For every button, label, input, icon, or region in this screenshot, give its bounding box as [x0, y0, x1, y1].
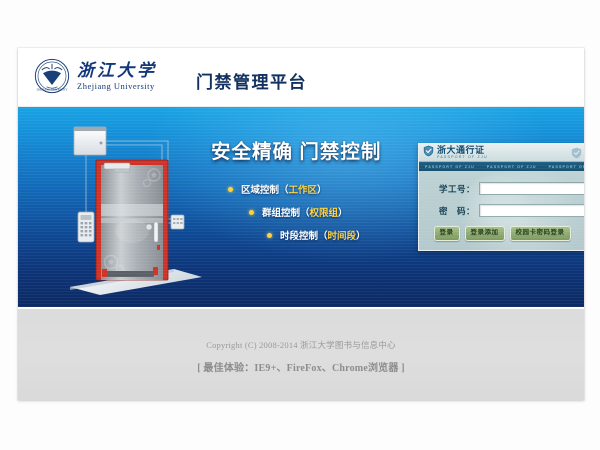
- login-panel-title-group: 浙大通行证 PASSPORT OF ZJU: [437, 146, 488, 160]
- svg-text:ZHEJIANG UNIVERSITY: ZHEJIANG UNIVERSITY: [37, 89, 68, 92]
- feature-label: 群组控制（: [262, 205, 310, 219]
- login-add-button[interactable]: 登录添加: [465, 226, 505, 241]
- password-label: 密 码：: [427, 205, 479, 217]
- site-footer: Copyright (C) 2008-2014 浙江大学图书与信息中心 [ 最佳…: [18, 307, 584, 400]
- password-input[interactable]: [479, 204, 584, 217]
- brand-name-cn: 浙江大学: [77, 62, 157, 79]
- hero-copy: 安全精确 门禁控制 区域控制（工作区） 群组控制（权限组） 时段控制（时间段）: [211, 135, 426, 251]
- login-form: 学工号： 密 码： 登录 登录添加 校园卡密码登录: [419, 171, 584, 250]
- watermark-text: PASSPORT OF ZJU: [543, 165, 584, 169]
- login-panel: 浙大通行证 PASSPORT OF ZJU PASSPORT OF ZJU PA…: [418, 143, 584, 251]
- field-row-password: 密 码：: [427, 204, 577, 217]
- brand-name-en: Zhejiang University: [77, 82, 157, 91]
- feature-label: 时段控制（: [280, 228, 328, 242]
- login-button[interactable]: 登录: [434, 226, 460, 241]
- login-panel-header: 浙大通行证 PASSPORT OF ZJU: [419, 144, 584, 162]
- login-panel-title: 浙大通行证: [437, 146, 488, 155]
- student-staff-id-input[interactable]: [479, 182, 584, 195]
- bullet-dot-icon: [249, 210, 254, 215]
- shield-icon: [423, 144, 437, 162]
- login-button-row: 登录 登录添加 校园卡密码登录: [427, 226, 577, 241]
- student-staff-id-label: 学工号：: [427, 183, 479, 195]
- feature-item-area-control: 区域控制（工作区）: [211, 182, 426, 196]
- login-panel-subtitle: PASSPORT OF ZJU: [437, 156, 488, 160]
- browser-support-text: [ 最佳体验：IE9+、FireFox、Chrome浏览器 ]: [18, 359, 584, 374]
- feature-tail: ）: [338, 205, 348, 219]
- feature-tail: ）: [317, 182, 327, 196]
- hero-banner: 安全精确 门禁控制 区域控制（工作区） 群组控制（权限组） 时段控制（时间段）: [18, 107, 584, 307]
- copyright-text: Copyright (C) 2008-2014 浙江大学图书与信息中心: [18, 339, 584, 351]
- bullet-dot-icon: [228, 187, 233, 192]
- bullet-dot-icon: [267, 233, 272, 238]
- content-card: ZHEJIANG UNIVERSITY 浙江大学 Zhejiang Univer…: [18, 48, 584, 400]
- feature-label: 区域控制（: [241, 182, 289, 196]
- site-header: ZHEJIANG UNIVERSITY 浙江大学 Zhejiang Univer…: [18, 48, 584, 107]
- watermark-text: PASSPORT OF ZJU: [419, 165, 481, 169]
- shield-icon-secondary: [571, 146, 582, 158]
- hero-slogan: 安全精确 门禁控制: [211, 135, 426, 164]
- feature-tail: ）: [356, 228, 366, 242]
- brand-wordmark: 浙江大学 Zhejiang University: [77, 62, 157, 91]
- footer-notch: [186, 307, 193, 309]
- brand-logo[interactable]: ZHEJIANG UNIVERSITY 浙江大学 Zhejiang Univer…: [34, 58, 157, 94]
- watermark-text: PASSPORT OF ZJU: [481, 165, 543, 169]
- feature-highlight: 权限组: [310, 205, 339, 219]
- campus-card-login-button[interactable]: 校园卡密码登录: [510, 226, 571, 241]
- login-watermark-strip: PASSPORT OF ZJU PASSPORT OF ZJU PASSPORT…: [419, 162, 584, 171]
- feature-list: 区域控制（工作区） 群组控制（权限组） 时段控制（时间段）: [211, 182, 426, 242]
- access-control-door-illustration: [56, 119, 206, 301]
- feature-item-time-control: 时段控制（时间段）: [211, 228, 426, 242]
- field-row-student-staff-id: 学工号：: [427, 182, 577, 195]
- feature-highlight: 工作区: [289, 182, 318, 196]
- feature-item-group-control: 群组控制（权限组）: [211, 205, 426, 219]
- page-root: ZHEJIANG UNIVERSITY 浙江大学 Zhejiang Univer…: [0, 0, 600, 450]
- footer-notch: [370, 307, 377, 309]
- page-title: 门禁管理平台: [196, 68, 307, 93]
- zju-seal-icon: ZHEJIANG UNIVERSITY: [34, 58, 70, 94]
- feature-highlight: 时间段: [328, 228, 357, 242]
